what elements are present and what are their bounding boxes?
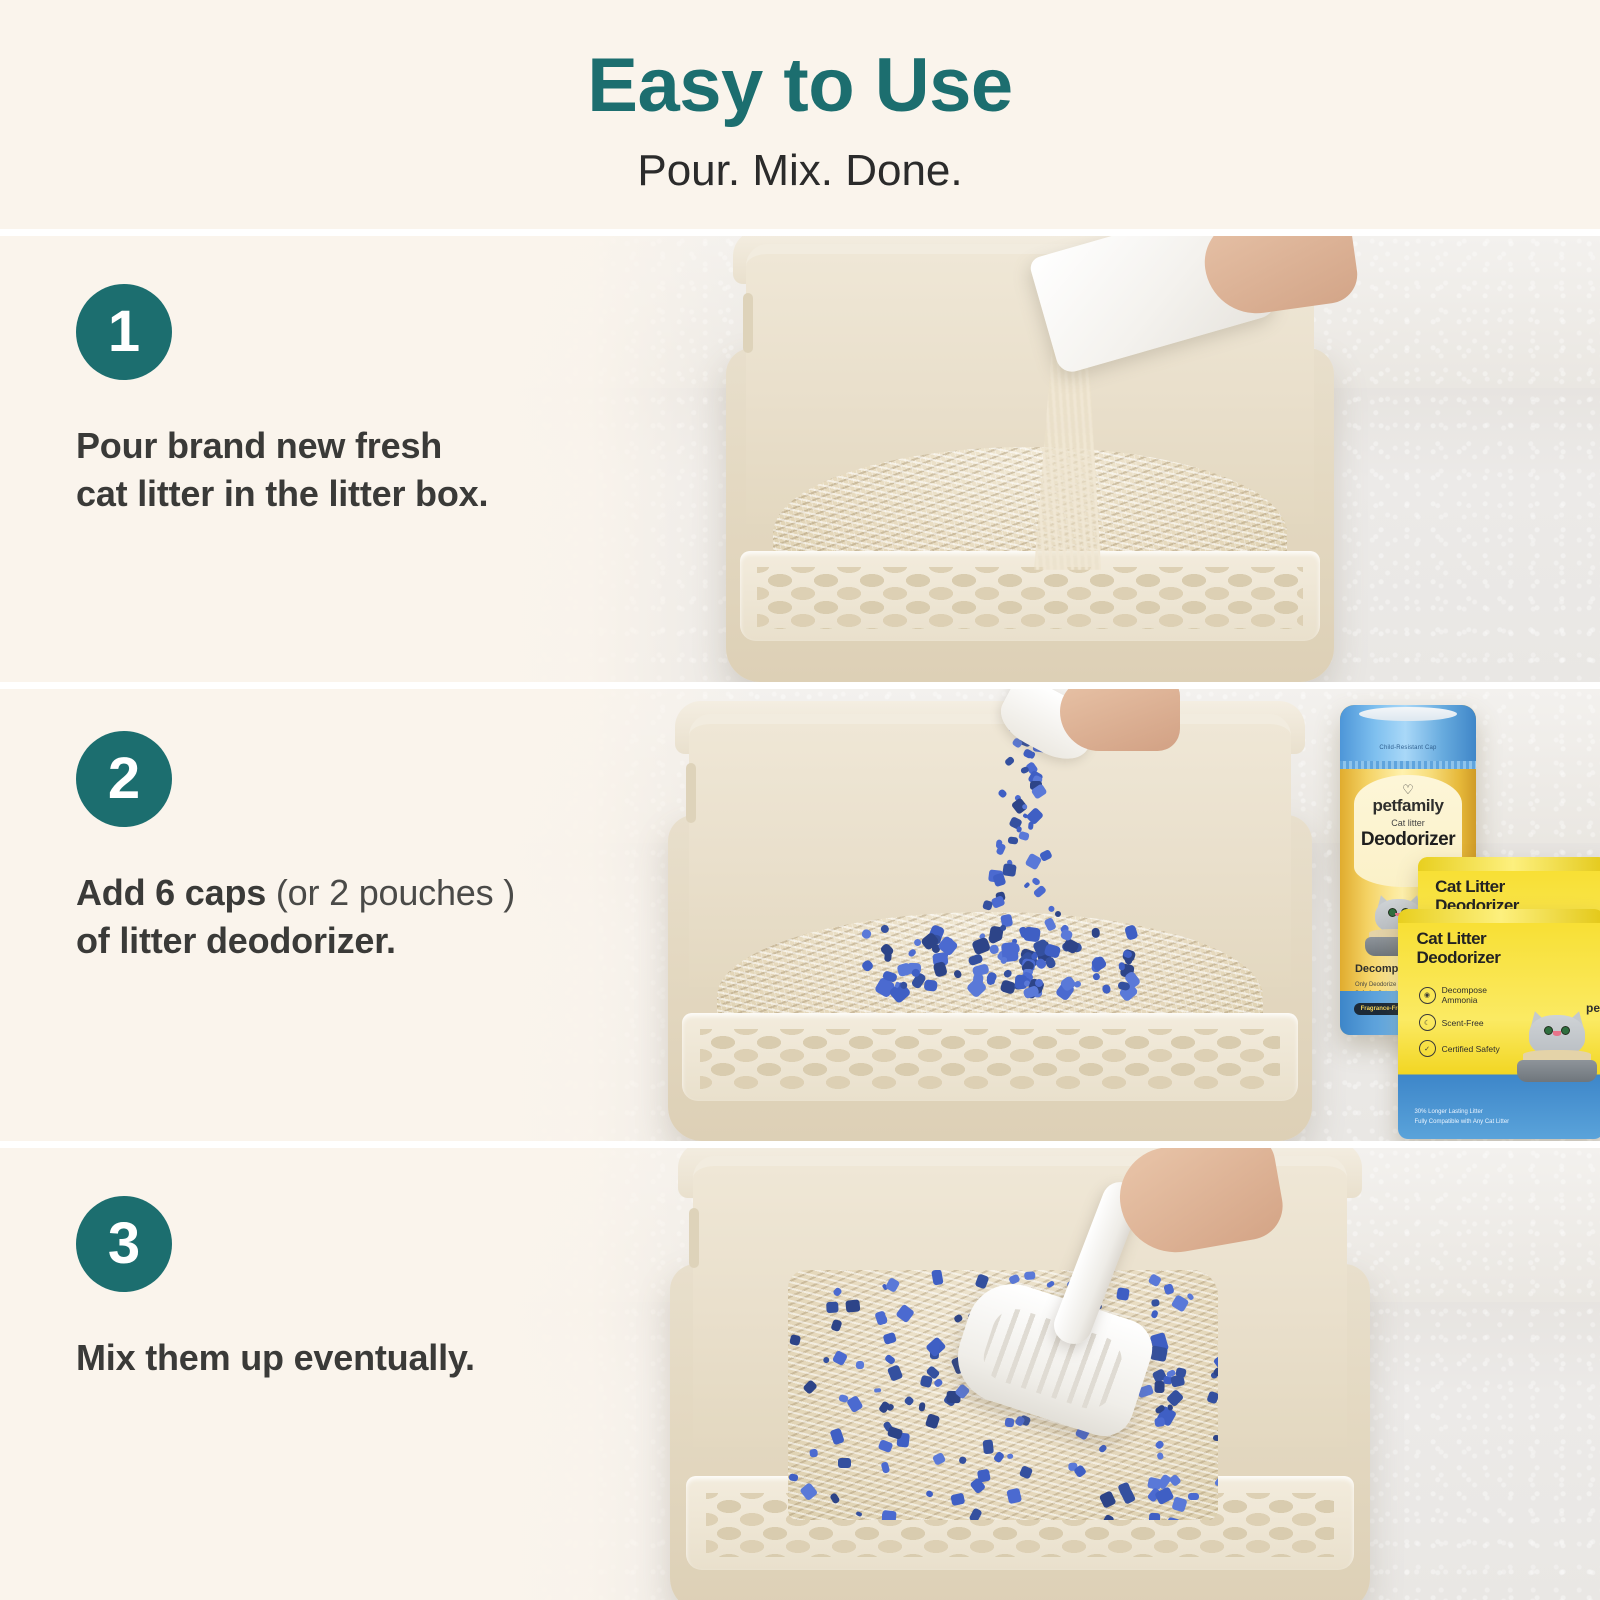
litter-box-handle-notch [686,763,696,823]
molecule-icon: ◉ [1419,987,1436,1004]
pouch-top-seal [1398,909,1600,923]
product-group: Child-Resistant Cap ♡ petfamily Cat litt… [1314,693,1600,1139]
litter-box-handle-notch [743,293,753,353]
pouch-title-front: Cat Litter Deodorizer [1417,929,1582,967]
cat-illustration-pouch [1514,1011,1600,1083]
step-2-tail: of litter deodorizer. [76,920,396,961]
panel-divider-2-3 [0,1141,1600,1148]
pouch-footer-bullets: 30% Longer Lasting Litter Fully Compatib… [1414,1107,1558,1127]
pouch-feature-item: ◉ Decompose Ammonia [1419,985,1576,1005]
step-2-block: 2 Add 6 caps (or 2 pouches )of litter de… [76,731,515,965]
page-header: Easy to Use Pour. Mix. Done. [0,0,1600,232]
step-3-block: 3 Mix them up eventually. [76,1196,475,1382]
cap-top-disc [1359,707,1457,721]
step-3-text: Mix them up eventually. [76,1334,475,1382]
deodorizer-pouch-front: Cat Litter Deodorizer pe ◉ Decompose Amm… [1398,909,1600,1139]
step-1-block: 1 Pour brand new fresh cat litter in the… [76,284,488,518]
pouch-feature-label: Scent-Free [1442,1018,1484,1028]
panel-divider-top [0,229,1600,236]
panel-divider-1-2 [0,682,1600,689]
hand-holding-cap [1060,689,1180,751]
step-panel-3: 3 Mix them up eventually. [0,1148,1600,1600]
perforated-ledge [740,551,1321,641]
certified-icon: ✓ [1419,1040,1436,1057]
step-2-parenthetical: (or 2 pouches ) [276,872,515,913]
litter-box-handle-notch [689,1208,699,1268]
page-subtitle: Pour. Mix. Done. [637,146,962,196]
pouch-footer-bullet: Fully Compatible with Any Cat Litter [1414,1117,1558,1127]
bottle-line-2: Deodorizer [1354,829,1463,851]
cat-eye-left [1544,1026,1553,1035]
bottle-cap: Child-Resistant Cap [1340,705,1476,767]
brand-name: petfamily [1354,796,1463,816]
cat-heart-logo-icon: ♡ [1354,783,1463,796]
cap-perforation-ring [1340,761,1476,769]
step-panel-2: Child-Resistant Cap ♡ petfamily Cat litt… [0,689,1600,1141]
perforated-ledge [682,1013,1298,1101]
deodorizer-granule-pile [860,925,1130,989]
child-resistant-cap-note: Child-Resistant Cap [1340,745,1476,751]
step-2-lead: Add 6 caps [76,872,276,913]
pouch-top-seal [1418,857,1600,871]
pouch-feature-label: Decompose Ammonia [1442,985,1487,1005]
cat-tray [1517,1060,1596,1082]
step-panel-1: 1 Pour brand new fresh cat litter in the… [0,236,1600,682]
pouch-feature-label: Certified Safety [1442,1044,1500,1054]
step-2-text: Add 6 caps (or 2 pouches )of litter deod… [76,869,515,965]
page-title: Easy to Use [587,48,1012,124]
cat-mouth [1553,1031,1562,1035]
no-scent-icon: ☾ [1419,1014,1436,1031]
infographic-page: Easy to Use Pour. Mix. Done. 1 Pour bran… [0,0,1600,1600]
step-1-badge: 1 [76,284,172,380]
pouch-footer-bullet: 30% Longer Lasting Litter [1414,1107,1558,1117]
step-3-badge: 3 [76,1196,172,1292]
step-1-text: Pour brand new fresh cat litter in the l… [76,422,488,518]
cat-eye-right [1561,1026,1570,1035]
step-2-badge: 2 [76,731,172,827]
bottle-line-1: Cat litter [1354,818,1463,828]
